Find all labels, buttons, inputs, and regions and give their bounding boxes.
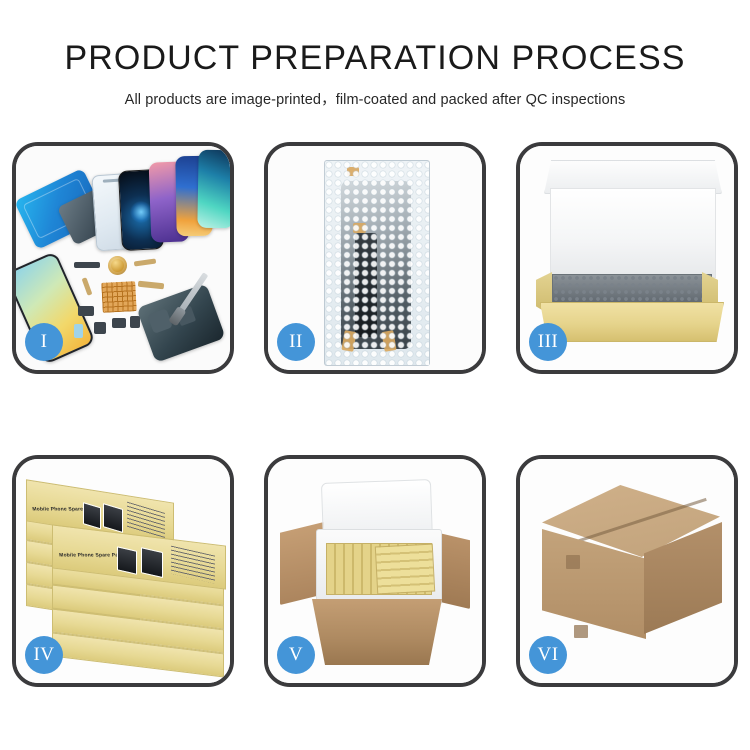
box-front-image	[540, 302, 724, 342]
logic-board-image	[101, 281, 137, 313]
gold-boxes-image	[375, 544, 435, 595]
process-step-1[interactable]: I	[12, 142, 234, 374]
chip-part-image	[74, 262, 100, 268]
step-badge-3: III	[529, 323, 567, 361]
chip-part-image	[130, 316, 140, 328]
step-badge-4: IV	[25, 636, 63, 674]
white-foam-image	[550, 188, 716, 278]
phone-teal-image	[197, 150, 230, 229]
carton-tape-image	[574, 625, 588, 638]
carton-front-image	[312, 599, 442, 665]
step-badge-2: II	[277, 323, 315, 361]
header: PRODUCT PREPARATION PROCESS All products…	[0, 38, 750, 109]
box-label-phone-image	[103, 503, 123, 533]
process-step-6[interactable]: VI	[516, 455, 738, 687]
vibration-motor-image	[108, 256, 127, 275]
box-label-phone-image	[141, 547, 163, 578]
process-step-4[interactable]: Mobile Phone Spare Parts Mobile Phone Sp…	[12, 455, 234, 687]
process-step-5[interactable]: V	[264, 455, 486, 687]
carton-tape-image	[566, 555, 580, 569]
product-preparation-infographic: PRODUCT PREPARATION PROCESS All products…	[0, 0, 750, 750]
step-badge-5: V	[277, 636, 315, 674]
page-subtitle: All products are image-printed，film-coat…	[0, 88, 750, 109]
grey-foam-insert-image	[552, 274, 712, 306]
box-label-phone-image	[117, 546, 137, 575]
process-step-grid: I II	[12, 142, 738, 687]
step-badge-6: VI	[529, 636, 567, 674]
small-part-image	[74, 324, 83, 338]
chip-part-image	[78, 306, 94, 316]
process-step-2[interactable]: II	[264, 142, 486, 374]
box-label-phone-image	[83, 502, 101, 529]
step-badge-1: I	[25, 323, 63, 361]
page-title: PRODUCT PREPARATION PROCESS	[0, 38, 750, 78]
chip-part-image	[112, 318, 126, 328]
box-label-text: Mobile Phone Spare Parts	[59, 552, 126, 558]
box-label-spec-lines	[171, 546, 215, 584]
bubble-wrap-bag-image	[324, 160, 430, 366]
chip-part-image	[94, 322, 106, 334]
bubble-texture	[325, 161, 429, 365]
process-step-3[interactable]: III	[516, 142, 738, 374]
